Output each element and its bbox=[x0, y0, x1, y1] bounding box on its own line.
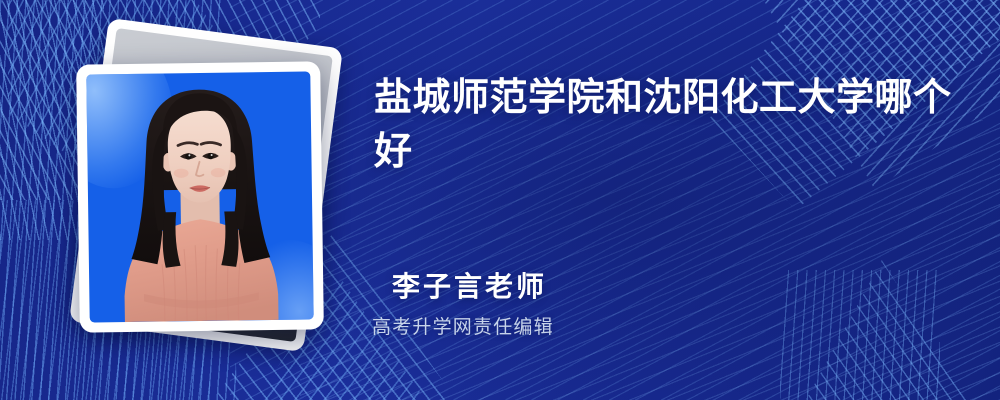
author-photo-card-stack bbox=[52, 28, 362, 368]
author-name: 李子言老师 bbox=[392, 270, 912, 304]
portrait-illustration bbox=[86, 71, 313, 322]
author-byline-block: 李子言老师 高考升学网责任编辑 bbox=[392, 270, 912, 340]
article-cover-banner: 盐城师范学院和沈阳化工大学哪个好 李子言老师 高考升学网责任编辑 bbox=[0, 0, 1000, 400]
author-role: 高考升学网责任编辑 bbox=[372, 316, 912, 341]
headline-block: 盐城师范学院和沈阳化工大学哪个好 bbox=[374, 72, 954, 180]
article-headline: 盐城师范学院和沈阳化工大学哪个好 bbox=[374, 72, 954, 180]
author-portrait-photo bbox=[86, 71, 313, 322]
photo-card-front bbox=[76, 61, 324, 332]
